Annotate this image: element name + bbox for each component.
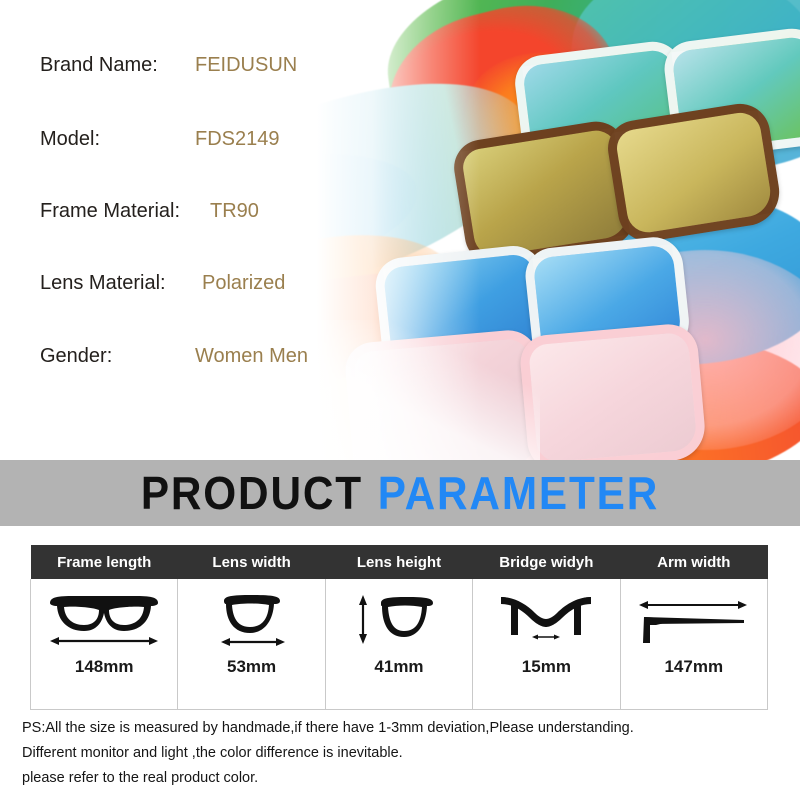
spec-label: Frame Material:	[40, 196, 210, 226]
lens-right	[518, 322, 707, 460]
bridge-span-arrow-icon	[491, 589, 601, 651]
column-header-lens-height: Lens height	[325, 545, 472, 579]
spec-value: FEIDUSUN	[195, 50, 297, 80]
full-frame-horizontal-arrow-icon	[44, 589, 164, 651]
parameter-table: Frame length Lens width Lens height Brid…	[30, 545, 768, 710]
single-lens-vertical-arrow-icon	[349, 589, 449, 651]
spec-label: Brand Name:	[40, 50, 195, 80]
banner-title-product: PRODUCT	[141, 466, 363, 520]
lens-right	[604, 100, 784, 246]
cell-bridge-width: 15mm	[473, 579, 620, 710]
temple-arm-horizontal-arrow-icon	[634, 589, 754, 651]
spec-row-frame-material: Frame Material:TR90	[40, 196, 259, 226]
cell-lens-height: 41mm	[325, 579, 472, 710]
spec-row-brand-name: Brand Name:FEIDUSUN	[40, 50, 297, 80]
cell-lens-width: 53mm	[178, 579, 325, 710]
measurement-value: 147mm	[664, 657, 723, 677]
measurement-value: 15mm	[522, 657, 571, 677]
spec-label: Model:	[40, 124, 195, 154]
spec-value: FDS2149	[195, 124, 280, 154]
spec-row-model: Model:FDS2149	[40, 124, 280, 154]
banner-title: PRODUCT PARAMETER	[32, 460, 768, 526]
column-header-bridge-width: Bridge widyh	[473, 545, 620, 579]
note-line-2: Different monitor and light ,the color d…	[22, 741, 792, 766]
product-notes: PS:All the size is measured by handmade,…	[22, 716, 792, 791]
spec-value: Women Men	[195, 341, 308, 371]
measurement-value: 53mm	[227, 657, 276, 677]
banner-title-parameter: PARAMETER	[378, 466, 659, 520]
column-header-arm-width: Arm width	[620, 545, 767, 579]
column-header-frame-length: Frame length	[31, 545, 178, 579]
spec-label: Gender:	[40, 341, 195, 371]
spec-label: Lens Material:	[40, 268, 202, 298]
cell-frame-length: 148mm	[31, 579, 178, 710]
spec-value: TR90	[210, 196, 259, 226]
single-lens-horizontal-arrow-icon	[202, 589, 302, 651]
measurement-value: 41mm	[374, 657, 423, 677]
measurement-value: 148mm	[75, 657, 134, 677]
note-line-1: PS:All the size is measured by handmade,…	[22, 716, 792, 741]
table-header-row: Frame length Lens width Lens height Brid…	[31, 545, 768, 579]
hero-section: Brand Name:FEIDUSUN Model:FDS2149 Frame …	[0, 0, 800, 460]
spec-list: Brand Name:FEIDUSUN Model:FDS2149 Frame …	[0, 0, 330, 460]
note-line-3: please refer to the real product color.	[22, 766, 792, 791]
spec-row-lens-material: Lens Material:Polarized	[40, 268, 285, 298]
spec-row-gender: Gender:Women Men	[40, 341, 308, 371]
table-row: 148mm	[31, 579, 768, 710]
spec-value: Polarized	[202, 268, 285, 298]
column-header-lens-width: Lens width	[178, 545, 325, 579]
cell-arm-width: 147mm	[620, 579, 767, 710]
product-detail-page: Brand Name:FEIDUSUN Model:FDS2149 Frame …	[0, 0, 800, 800]
product-parameter-banner: PRODUCT PARAMETER	[0, 460, 800, 526]
